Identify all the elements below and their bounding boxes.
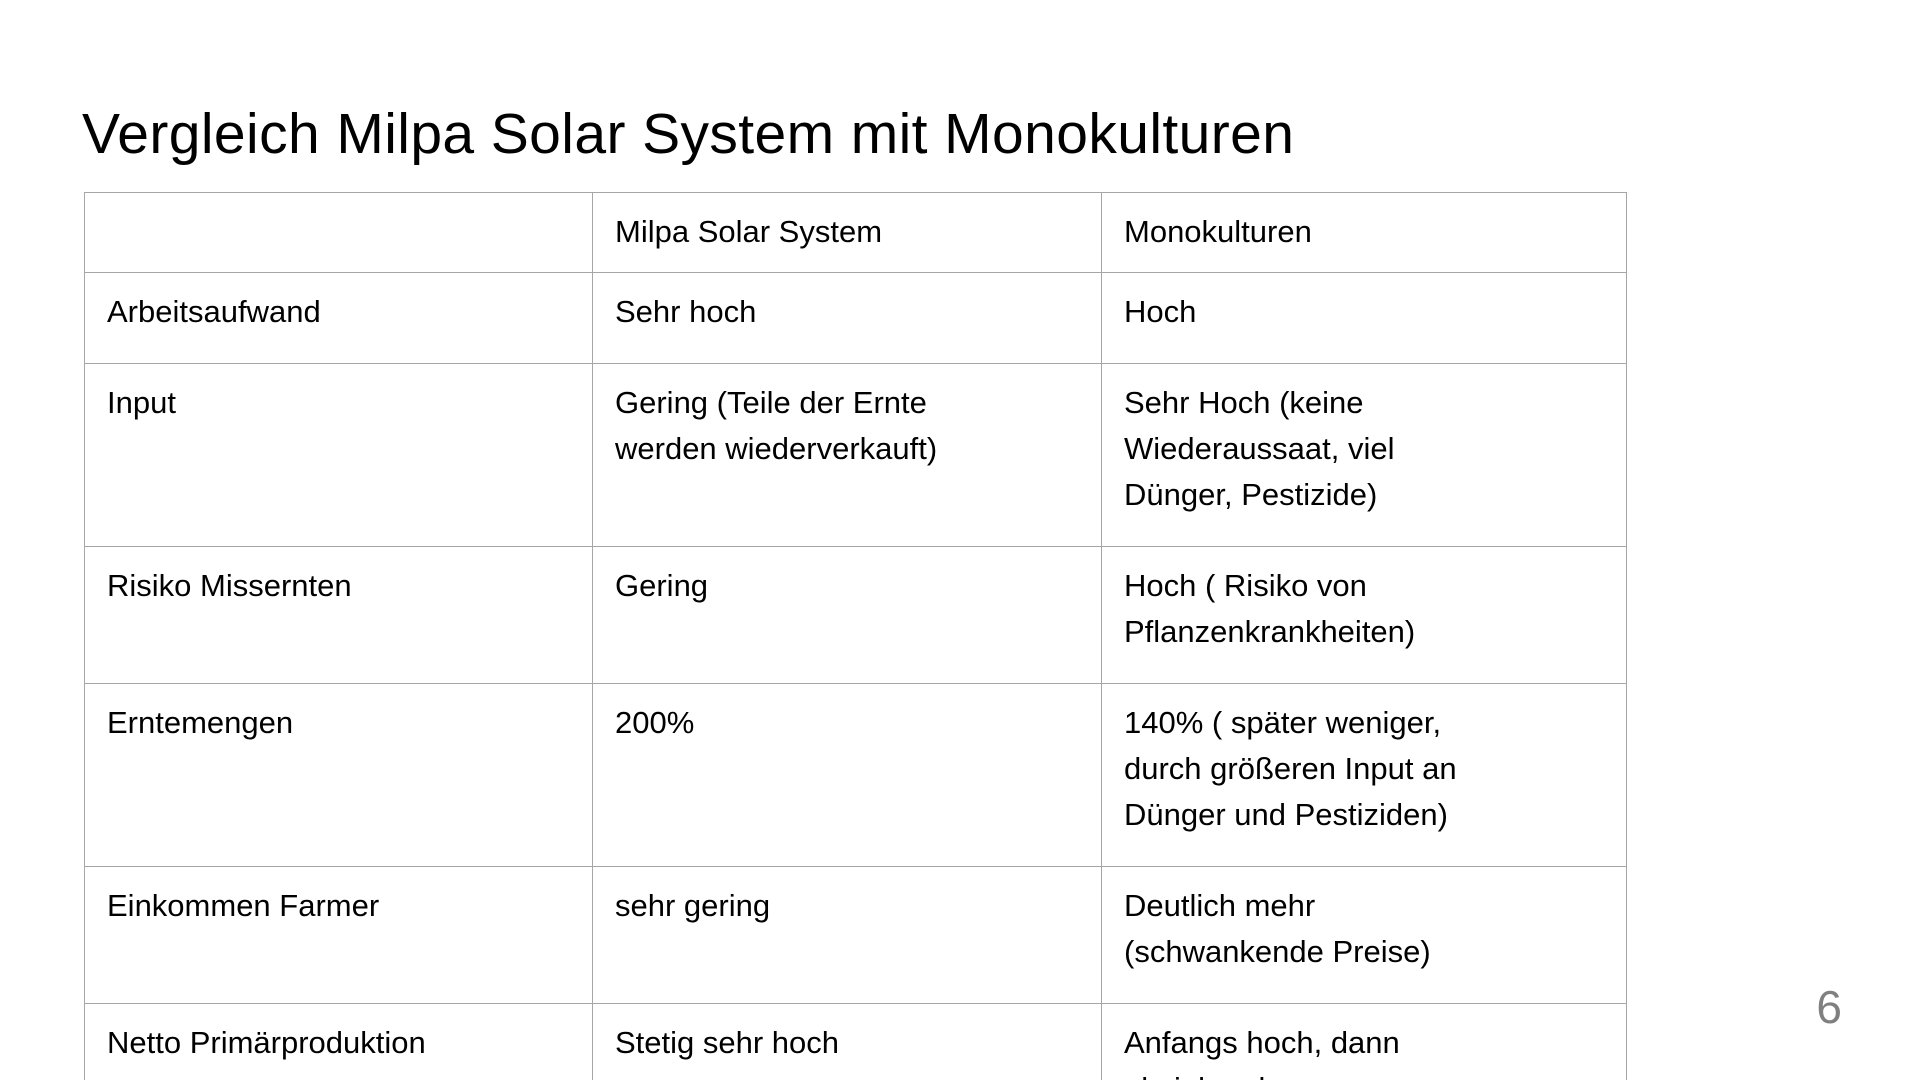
cell-line: (schwankende Preise) [1124, 929, 1604, 975]
cell-line: Dünger und Pestiziden) [1124, 792, 1604, 838]
row-milpa-value: Gering [593, 547, 1102, 684]
cell-line: 140% ( später weniger, [1124, 700, 1604, 746]
table-row: Einkommen Farmer sehr gering Deutlich me… [85, 867, 1627, 1004]
row-mono-value: 140% ( später weniger, durch größeren In… [1102, 684, 1627, 867]
cell-line: Hoch ( Risiko von [1124, 563, 1604, 609]
table-body: Arbeitsaufwand Sehr hoch Hoch Input Geri… [85, 273, 1627, 1080]
cell-line: Stetig sehr hoch [615, 1020, 1079, 1066]
comparison-table: Milpa Solar System Monokulturen Arbeitsa… [84, 192, 1627, 1080]
row-criterion: Erntemengen [85, 684, 593, 867]
column-header-milpa-solar-system: Milpa Solar System [593, 193, 1102, 273]
cell-line: durch größeren Input an [1124, 746, 1604, 792]
cell-line: 200% [615, 700, 1079, 746]
row-criterion: Arbeitsaufwand [85, 273, 593, 364]
slide-number: 6 [1816, 982, 1842, 1032]
column-header-monokulturen: Monokulturen [1102, 193, 1627, 273]
row-mono-value: Deutlich mehr (schwankende Preise) [1102, 867, 1627, 1004]
column-header-criterion [85, 193, 593, 273]
page-title: Vergleich Milpa Solar System mit Monokul… [82, 103, 1294, 165]
row-milpa-value: Gering (Teile der Ernte werden wiederver… [593, 364, 1102, 547]
row-milpa-value: 200% [593, 684, 1102, 867]
cell-line: werden wiederverkauft) [615, 426, 1079, 472]
row-milpa-value: Sehr hoch [593, 273, 1102, 364]
cell-line: Hoch [1124, 289, 1604, 335]
cell-line: Sehr Hoch (keine [1124, 380, 1604, 426]
table-row: Netto Primärproduktion Stetig sehr hoch … [85, 1004, 1627, 1080]
table-header: Milpa Solar System Monokulturen [85, 193, 1627, 273]
row-mono-value: Sehr Hoch (keine Wiederaussaat, viel Dün… [1102, 364, 1627, 547]
row-criterion: Input [85, 364, 593, 547]
cell-line: Gering (Teile der Ernte [615, 380, 1079, 426]
cell-line: Deutlich mehr [1124, 883, 1604, 929]
row-mono-value: Anfangs hoch, dann absinkend [1102, 1004, 1627, 1080]
table-row: Risiko Missernten Gering Hoch ( Risiko v… [85, 547, 1627, 684]
cell-line: Wiederaussaat, viel [1124, 426, 1604, 472]
cell-line: Pflanzenkrankheiten) [1124, 609, 1604, 655]
cell-line: Dünger, Pestizide) [1124, 472, 1604, 518]
row-criterion: Risiko Missernten [85, 547, 593, 684]
comparison-table-container: Milpa Solar System Monokulturen Arbeitsa… [84, 192, 1626, 1080]
row-milpa-value: sehr gering [593, 867, 1102, 1004]
presentation-slide: Vergleich Milpa Solar System mit Monokul… [0, 0, 1920, 1080]
table-row: Erntemengen 200% 140% ( später weniger, … [85, 684, 1627, 867]
table-row: Arbeitsaufwand Sehr hoch Hoch [85, 273, 1627, 364]
row-milpa-value: Stetig sehr hoch [593, 1004, 1102, 1080]
table-row: Input Gering (Teile der Ernte werden wie… [85, 364, 1627, 547]
cell-line: absinkend [1124, 1066, 1604, 1080]
cell-line: sehr gering [615, 883, 1079, 929]
row-mono-value: Hoch ( Risiko von Pflanzenkrankheiten) [1102, 547, 1627, 684]
cell-line: Anfangs hoch, dann [1124, 1020, 1604, 1066]
cell-line: Sehr hoch [615, 289, 1079, 335]
row-criterion: Einkommen Farmer [85, 867, 593, 1004]
row-criterion: Netto Primärproduktion [85, 1004, 593, 1080]
table-header-row: Milpa Solar System Monokulturen [85, 193, 1627, 273]
cell-line: Gering [615, 563, 1079, 609]
row-mono-value: Hoch [1102, 273, 1627, 364]
